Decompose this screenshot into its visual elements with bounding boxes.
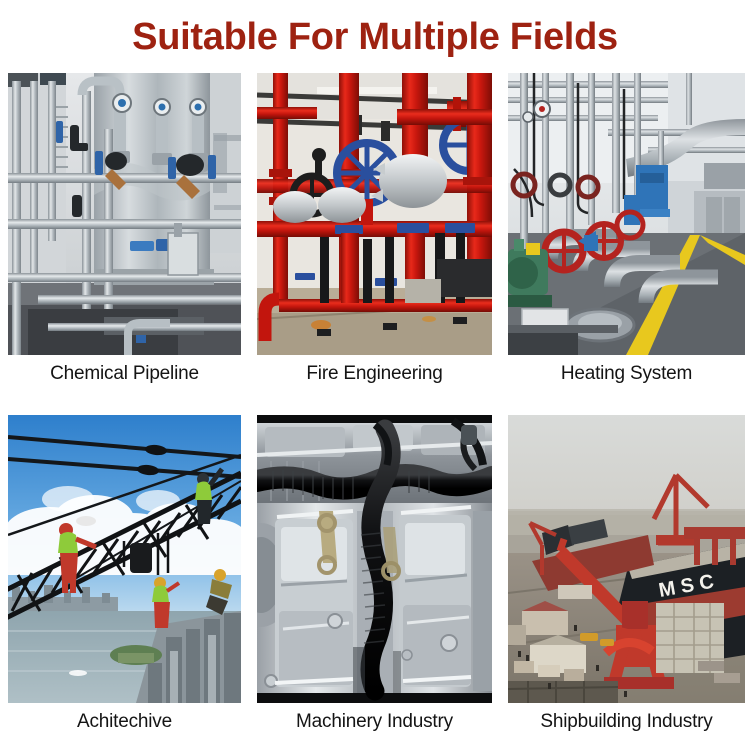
gallery-cell-chemical-pipeline[interactable]: Chemical Pipeline (8, 73, 241, 355)
gallery-cell-machinery-industry[interactable]: Machinery Industry (257, 415, 492, 703)
gallery-row-2: Achitechive (8, 415, 745, 703)
shipbuilding-photo: M S C (508, 415, 745, 703)
page-title: Suitable For Multiple Fields (0, 14, 750, 60)
caption-fire-engineering: Fire Engineering (257, 363, 492, 385)
gallery-row-1: Chemical Pipeline (8, 73, 745, 355)
gallery-cell-heating-system[interactable]: Heating System (508, 73, 745, 355)
gallery-cell-fire-engineering[interactable]: Fire Engineering (257, 73, 492, 355)
caption-achitechive: Achitechive (8, 711, 241, 733)
caption-heating-system: Heating System (508, 363, 745, 385)
field-gallery-grid: Chemical Pipeline (8, 73, 745, 703)
caption-shipbuilding-industry: Shipbuilding Industry (508, 711, 745, 733)
page-title-text: Suitable For Multiple Fields (132, 14, 618, 60)
gallery-cell-shipbuilding-industry[interactable]: M S C (508, 415, 745, 703)
poster-root: Suitable For Multiple Fields (0, 0, 750, 750)
achitechive-photo (8, 415, 241, 703)
chemical-pipeline-photo (8, 73, 241, 355)
heating-system-photo (508, 73, 745, 355)
machinery-industry-photo (257, 415, 492, 703)
gallery-cell-achitechive[interactable]: Achitechive (8, 415, 241, 703)
caption-chemical-pipeline: Chemical Pipeline (8, 363, 241, 385)
caption-machinery-industry: Machinery Industry (257, 711, 492, 733)
fire-engineering-photo (257, 73, 492, 355)
